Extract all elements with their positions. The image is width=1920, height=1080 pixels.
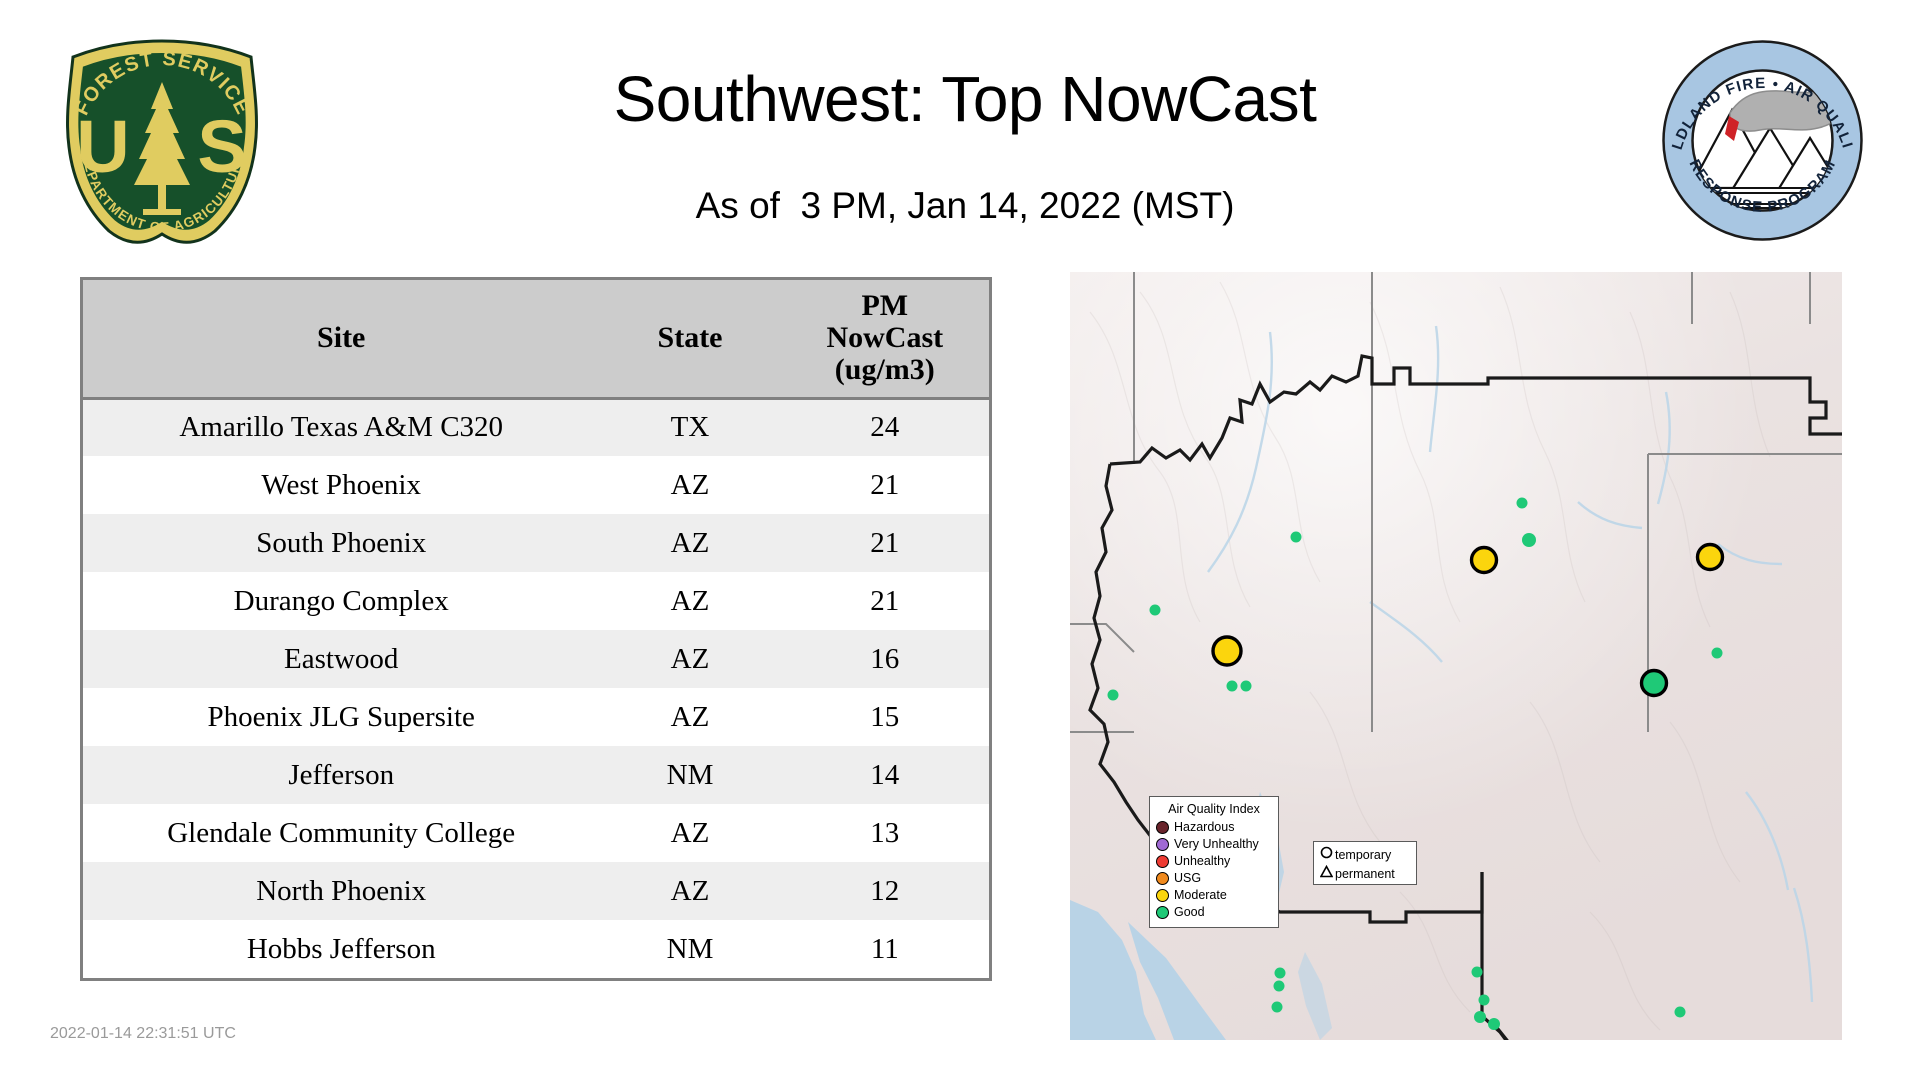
aqi-legend-item: Hazardous bbox=[1156, 819, 1272, 836]
table-row: JeffersonNM14 bbox=[83, 746, 989, 804]
table-row: Glendale Community CollegeAZ13 bbox=[83, 804, 989, 862]
shield-letter-s: S bbox=[197, 105, 246, 188]
monitor-marker-moderate[interactable] bbox=[1698, 545, 1723, 570]
table-row: Durango ComplexAZ21 bbox=[83, 572, 989, 630]
value-cell: 24 bbox=[781, 398, 989, 456]
aqi-legend-item: Moderate bbox=[1156, 887, 1272, 904]
monitor-marker-good[interactable] bbox=[1108, 690, 1119, 701]
state-cell: NM bbox=[599, 746, 780, 804]
triangle-icon bbox=[1318, 865, 1335, 883]
table-row: North PhoenixAZ12 bbox=[83, 862, 989, 920]
site-cell: Jefferson bbox=[83, 746, 599, 804]
state-cell: AZ bbox=[599, 630, 780, 688]
aqi-legend-item-label: Good bbox=[1174, 906, 1205, 919]
value-cell: 12 bbox=[781, 862, 989, 920]
monitor-marker-good[interactable] bbox=[1274, 981, 1285, 992]
table-row: Amarillo Texas A&M C320TX24 bbox=[83, 398, 989, 456]
state-cell: TX bbox=[599, 398, 780, 456]
aqi-color-swatch-icon bbox=[1156, 906, 1169, 919]
monitor-marker-moderate[interactable] bbox=[1213, 637, 1241, 665]
aqi-legend-item: Very Unhealthy bbox=[1156, 836, 1272, 853]
table-row: EastwoodAZ16 bbox=[83, 630, 989, 688]
monitor-marker-good[interactable] bbox=[1150, 605, 1161, 616]
aqi-color-swatch-icon bbox=[1156, 838, 1169, 851]
shield-letter-u: U bbox=[76, 105, 129, 188]
site-cell: Eastwood bbox=[83, 630, 599, 688]
value-cell: 21 bbox=[781, 514, 989, 572]
monitor-marker-good[interactable] bbox=[1488, 1018, 1500, 1030]
site-cell: Glendale Community College bbox=[83, 804, 599, 862]
aqi-legend-item-label: Moderate bbox=[1174, 889, 1227, 902]
value-cell: 16 bbox=[781, 630, 989, 688]
column-header-pm-line2: NowCast bbox=[785, 322, 985, 354]
slide-root: FOREST SERVICE DEPARTMENT OF AGRICULTURE… bbox=[0, 0, 1920, 1080]
value-cell: 21 bbox=[781, 456, 989, 514]
monitor-marker-good[interactable] bbox=[1522, 533, 1536, 547]
state-cell: AZ bbox=[599, 862, 780, 920]
aqi-legend-item: Good bbox=[1156, 904, 1272, 921]
aqi-color-swatch-icon bbox=[1156, 821, 1169, 834]
table-body: Amarillo Texas A&M C320TX24West PhoenixA… bbox=[83, 398, 989, 978]
table-row: West PhoenixAZ21 bbox=[83, 456, 989, 514]
legend-permanent-row: permanent bbox=[1318, 864, 1412, 883]
state-cell: AZ bbox=[599, 456, 780, 514]
site-cell: Hobbs Jefferson bbox=[83, 920, 599, 978]
monitor-marker-good[interactable] bbox=[1241, 681, 1252, 692]
table-header-row: Site State PM NowCast (ug/m3) bbox=[83, 280, 989, 398]
state-cell: NM bbox=[599, 920, 780, 978]
aqi-color-swatch-icon bbox=[1156, 872, 1169, 885]
state-cell: AZ bbox=[599, 514, 780, 572]
aqi-legend-title: Air Quality Index bbox=[1156, 802, 1272, 816]
us-forest-service-shield-logo: FOREST SERVICE DEPARTMENT OF AGRICULTURE… bbox=[55, 35, 270, 250]
aqi-legend: Air Quality Index HazardousVery Unhealth… bbox=[1149, 796, 1279, 928]
aqi-legend-item: Unhealthy bbox=[1156, 853, 1272, 870]
table-row: Hobbs JeffersonNM11 bbox=[83, 920, 989, 978]
monitor-marker-good[interactable] bbox=[1642, 671, 1667, 696]
site-cell: North Phoenix bbox=[83, 862, 599, 920]
monitor-marker-good[interactable] bbox=[1227, 681, 1238, 692]
aqi-color-swatch-icon bbox=[1156, 889, 1169, 902]
column-header-site: Site bbox=[83, 280, 599, 398]
table-row: Phoenix JLG SupersiteAZ15 bbox=[83, 688, 989, 746]
value-cell: 21 bbox=[781, 572, 989, 630]
monitor-marker-good[interactable] bbox=[1517, 498, 1528, 509]
monitor-marker-good[interactable] bbox=[1675, 1007, 1686, 1018]
page-title: Southwest: Top NowCast bbox=[300, 62, 1630, 136]
site-cell: Amarillo Texas A&M C320 bbox=[83, 398, 599, 456]
wildland-fire-air-quality-response-program-logo: WILDLAND FIRE • AIR QUALITY RESPONSE PRO… bbox=[1660, 38, 1865, 243]
monitor-marker-good[interactable] bbox=[1712, 648, 1723, 659]
aqi-legend-item-label: Unhealthy bbox=[1174, 855, 1230, 868]
nowcast-table-container: Site State PM NowCast (ug/m3) Amarillo T… bbox=[80, 277, 992, 981]
site-cell: West Phoenix bbox=[83, 456, 599, 514]
legend-temporary-row: temporary bbox=[1318, 845, 1412, 864]
column-header-pm-nowcast: PM NowCast (ug/m3) bbox=[781, 280, 989, 398]
aqi-color-swatch-icon bbox=[1156, 855, 1169, 868]
site-cell: Phoenix JLG Supersite bbox=[83, 688, 599, 746]
site-cell: Durango Complex bbox=[83, 572, 599, 630]
page-subtitle: As of 3 PM, Jan 14, 2022 (MST) bbox=[300, 185, 1630, 227]
value-cell: 14 bbox=[781, 746, 989, 804]
monitor-marker-moderate[interactable] bbox=[1472, 548, 1497, 573]
footer-timestamp: 2022-01-14 22:31:51 UTC bbox=[50, 1025, 236, 1043]
circle-icon bbox=[1318, 846, 1335, 864]
column-header-pm-line1: PM bbox=[785, 290, 985, 322]
monitor-marker-good[interactable] bbox=[1472, 967, 1483, 978]
monitor-marker-good[interactable] bbox=[1272, 1002, 1283, 1013]
monitor-type-legend: temporary permanent bbox=[1313, 841, 1417, 885]
monitor-marker-good[interactable] bbox=[1479, 995, 1490, 1006]
nowcast-table: Site State PM NowCast (ug/m3) Amarillo T… bbox=[83, 280, 989, 978]
value-cell: 15 bbox=[781, 688, 989, 746]
aqi-legend-item-label: Hazardous bbox=[1174, 821, 1234, 834]
value-cell: 11 bbox=[781, 920, 989, 978]
aqi-legend-item: USG bbox=[1156, 870, 1272, 887]
aqi-legend-item-label: Very Unhealthy bbox=[1174, 838, 1259, 851]
column-header-pm-line3: (ug/m3) bbox=[785, 354, 985, 386]
table-header: Site State PM NowCast (ug/m3) bbox=[83, 280, 989, 398]
column-header-state: State bbox=[599, 280, 780, 398]
monitor-marker-good[interactable] bbox=[1291, 532, 1302, 543]
site-cell: South Phoenix bbox=[83, 514, 599, 572]
legend-temporary-label: temporary bbox=[1335, 848, 1391, 862]
monitor-marker-good[interactable] bbox=[1275, 968, 1286, 979]
state-cell: AZ bbox=[599, 572, 780, 630]
table-row: South PhoenixAZ21 bbox=[83, 514, 989, 572]
state-cell: AZ bbox=[599, 804, 780, 862]
value-cell: 13 bbox=[781, 804, 989, 862]
monitor-marker-good[interactable] bbox=[1474, 1011, 1486, 1023]
aqi-legend-item-label: USG bbox=[1174, 872, 1201, 885]
legend-permanent-label: permanent bbox=[1335, 867, 1395, 881]
state-cell: AZ bbox=[599, 688, 780, 746]
